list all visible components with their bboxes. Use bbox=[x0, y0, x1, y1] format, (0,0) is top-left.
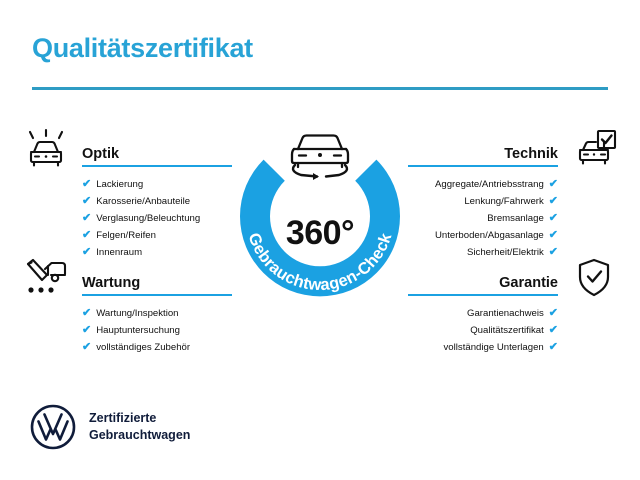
list-item-label: Sicherheit/Elektrik bbox=[467, 248, 544, 258]
certificate-page: Qualitätszertifikat Optik ✔ La bbox=[0, 0, 640, 480]
list-item: ✔ Unterboden/Abgasanlage bbox=[408, 227, 618, 244]
badge-degrees: 360° bbox=[222, 214, 418, 253]
shield-check-icon bbox=[570, 257, 618, 299]
section-technik-underline bbox=[408, 165, 558, 167]
section-garantie-header: Garantie bbox=[408, 257, 618, 299]
header-divider bbox=[32, 87, 608, 90]
section-garantie-list: ✔ Garantienachweis ✔ Qualitätszertifikat… bbox=[408, 305, 618, 356]
section-optik-header: Optik bbox=[22, 128, 232, 170]
brand-line-1: Zertifizierte bbox=[89, 410, 190, 427]
list-item-label: Innenraum bbox=[96, 248, 142, 258]
section-technik-list: ✔ Aggregate/Antriebsstrang ✔ Lenkung/Fah… bbox=[408, 176, 618, 261]
list-item-label: Lackierung bbox=[96, 180, 143, 190]
brand-text: Zertifizierte Gebrauchtwagen bbox=[89, 410, 190, 444]
section-optik-underline bbox=[82, 165, 232, 167]
section-wartung-underline bbox=[82, 294, 232, 296]
list-item: ✔ Felgen/Reifen bbox=[22, 227, 232, 244]
check-icon: ✔ bbox=[82, 325, 91, 336]
check-icon: ✔ bbox=[549, 325, 558, 336]
list-item: ✔ Lackierung bbox=[22, 176, 232, 193]
list-item-label: Hauptuntersuchung bbox=[96, 326, 180, 336]
section-wartung-list: ✔ Wartung/Inspektion ✔ Hauptuntersuchung… bbox=[22, 305, 232, 356]
list-item: ✔ Aggregate/Antriebsstrang bbox=[408, 176, 618, 193]
list-item: ✔ vollständiges Zubehör bbox=[22, 339, 232, 356]
car-checkbox-icon bbox=[570, 128, 618, 170]
check-icon: ✔ bbox=[549, 342, 558, 353]
brand-line-2: Gebrauchtwagen bbox=[89, 427, 190, 444]
check-icon: ✔ bbox=[82, 230, 91, 241]
car-wrench-icon bbox=[22, 257, 70, 299]
check-icon: ✔ bbox=[82, 179, 91, 190]
check-icon: ✔ bbox=[549, 230, 558, 241]
list-item-label: Garantienachweis bbox=[467, 309, 544, 319]
check-icon: ✔ bbox=[82, 213, 91, 224]
list-item: ✔ Wartung/Inspektion bbox=[22, 305, 232, 322]
section-wartung-header: Wartung bbox=[22, 257, 232, 299]
check-icon: ✔ bbox=[549, 179, 558, 190]
list-item-label: Unterboden/Abgasanlage bbox=[435, 231, 544, 241]
list-item: ✔ Hauptuntersuchung bbox=[22, 322, 232, 339]
check-icon: ✔ bbox=[549, 213, 558, 224]
list-item: ✔ vollständige Unterlagen bbox=[408, 339, 618, 356]
check-icon: ✔ bbox=[549, 196, 558, 207]
badge-360-gebrauchtwagen-check: Gebrauchtwagen-Check 360° bbox=[222, 118, 418, 314]
section-garantie-title: Garantie bbox=[499, 275, 558, 291]
list-item-label: Bremsanlage bbox=[487, 214, 544, 224]
check-icon: ✔ bbox=[82, 196, 91, 207]
list-item-label: Aggregate/Antriebsstrang bbox=[435, 180, 544, 190]
list-item-label: Lenkung/Fahrwerk bbox=[464, 197, 543, 207]
section-garantie: Garantie ✔ Garantienachweis ✔ Qualitätsz… bbox=[408, 257, 618, 356]
section-wartung: Wartung ✔ Wartung/Inspektion ✔ Hauptunte… bbox=[22, 257, 232, 356]
vw-logo-icon bbox=[30, 404, 76, 450]
page-title: Qualitätszertifikat bbox=[32, 33, 253, 64]
section-wartung-title: Wartung bbox=[82, 275, 140, 291]
section-optik-list: ✔ Lackierung ✔ Karosserie/Anbauteile ✔ V… bbox=[22, 176, 232, 261]
list-item: ✔ Karosserie/Anbauteile bbox=[22, 193, 232, 210]
list-item: ✔ Lenkung/Fahrwerk bbox=[408, 193, 618, 210]
section-technik-title: Technik bbox=[504, 146, 558, 162]
list-item: ✔ Verglasung/Beleuchtung bbox=[22, 210, 232, 227]
check-icon: ✔ bbox=[82, 342, 91, 353]
list-item: ✔ Qualitätszertifikat bbox=[408, 322, 618, 339]
section-garantie-underline bbox=[408, 294, 558, 296]
list-item: ✔ Bremsanlage bbox=[408, 210, 618, 227]
list-item-label: Karosserie/Anbauteile bbox=[96, 197, 190, 207]
list-item-label: Verglasung/Beleuchtung bbox=[96, 214, 200, 224]
car-rotation-icon bbox=[279, 123, 361, 181]
list-item-label: Wartung/Inspektion bbox=[96, 309, 178, 319]
list-item-label: vollständiges Zubehör bbox=[96, 343, 190, 353]
vw-brand-lockup: Zertifizierte Gebrauchtwagen bbox=[30, 404, 190, 450]
list-item: ✔ Garantienachweis bbox=[408, 305, 618, 322]
check-icon: ✔ bbox=[82, 308, 91, 319]
section-technik: Technik ✔ Aggregate/Antriebsstrang ✔ Len… bbox=[408, 128, 618, 261]
list-item-label: Qualitätszertifikat bbox=[470, 326, 544, 336]
car-shine-icon bbox=[22, 128, 70, 170]
list-item-label: vollständige Unterlagen bbox=[444, 343, 544, 353]
check-icon: ✔ bbox=[549, 308, 558, 319]
section-optik-title: Optik bbox=[82, 146, 119, 162]
section-optik: Optik ✔ Lackierung ✔ Karosserie/Anbautei… bbox=[22, 128, 232, 261]
list-item-label: Felgen/Reifen bbox=[96, 231, 156, 241]
section-technik-header: Technik bbox=[408, 128, 618, 170]
